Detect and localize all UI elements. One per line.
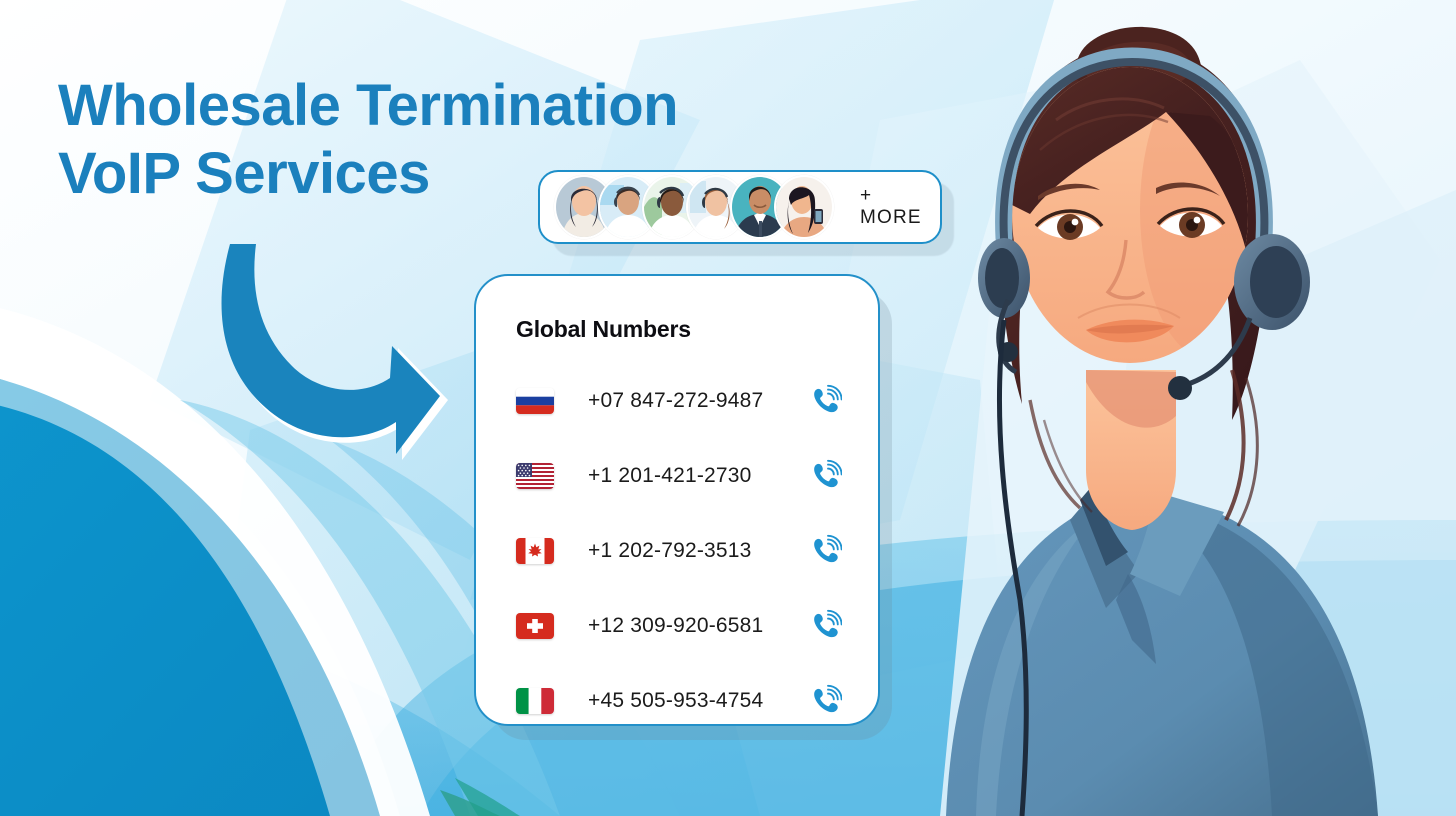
phone-number: +1 201-421-2730 [588,464,808,488]
flag-switzerland-icon [516,613,554,639]
flag-russia-icon [516,388,554,414]
flag-canada-icon [516,538,554,564]
global-numbers-card: Global Numbers +07 847-272-9487 [474,274,880,726]
avatar-agent-6[interactable] [774,175,834,239]
card-title: Global Numbers [516,316,878,343]
flag-united-states-icon [516,463,554,489]
phone-call-icon[interactable] [808,384,842,418]
phone-call-icon[interactable] [808,609,842,643]
avatar-stack [554,175,834,239]
phone-call-icon[interactable] [808,459,842,493]
phone-call-icon[interactable] [808,534,842,568]
phone-number: +45 505-953-4754 [588,689,808,713]
phone-number: +1 202-792-3513 [588,539,808,563]
more-label[interactable]: + MORE [860,185,940,229]
number-row-united-states[interactable]: +1 201-421-2730 [476,438,878,513]
call-center-agent-illustration [880,0,1456,816]
phone-call-icon[interactable] [808,684,842,718]
number-row-switzerland[interactable]: +12 309-920-6581 [476,588,878,663]
avatar-pill[interactable]: + MORE [538,170,942,244]
phone-number: +07 847-272-9487 [588,389,808,413]
phone-number: +12 309-920-6581 [588,614,808,638]
poster-canvas: Wholesale Termination VoIP Services [0,0,1456,816]
curved-arrow-icon [196,236,456,466]
number-row-canada[interactable]: +1 202-792-3513 [476,513,878,588]
numbers-list: +07 847-272-9487 [476,363,878,738]
number-row-italy[interactable]: +45 505-953-4754 [476,663,878,738]
number-row-russia[interactable]: +07 847-272-9487 [476,363,878,438]
flag-italy-icon [516,688,554,714]
